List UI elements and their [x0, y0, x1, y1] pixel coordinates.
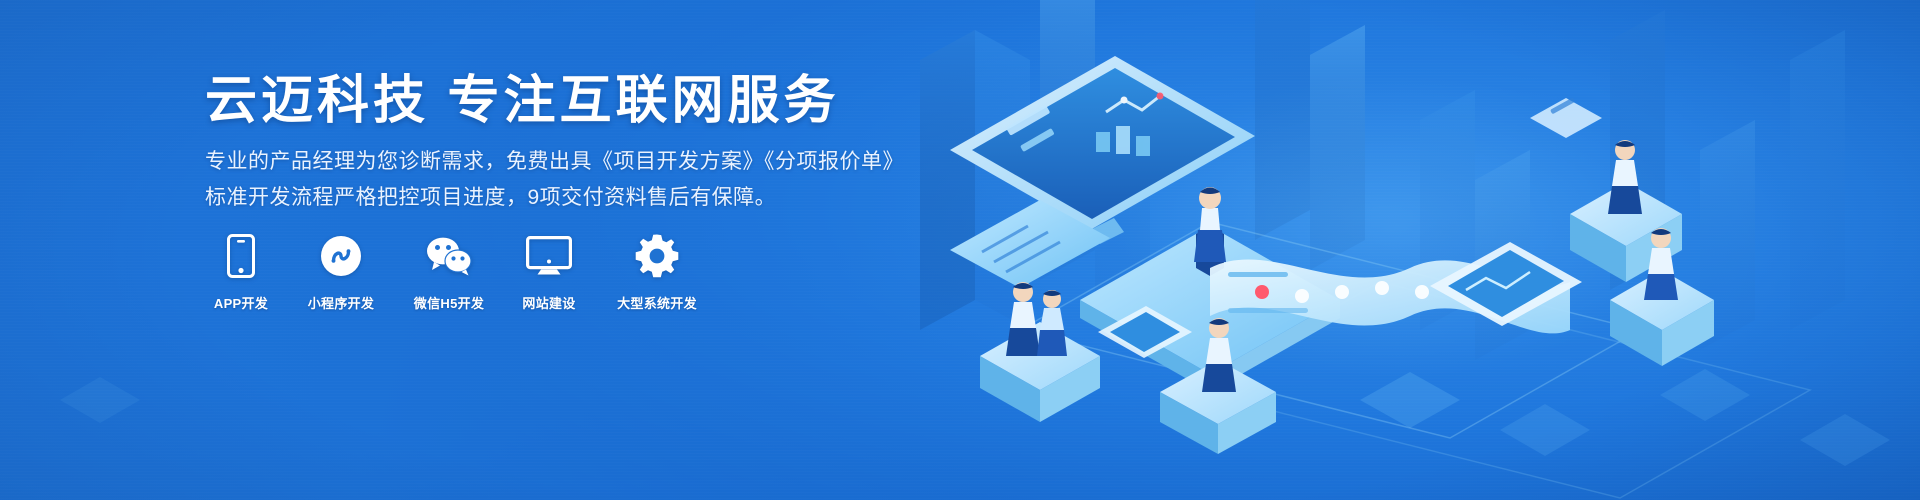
hero-illustration [910, 0, 1920, 500]
service-list: APP开发 小程序开发 [205, 232, 709, 312]
service-item-website[interactable]: 网站建设 [513, 232, 585, 312]
service-label: 小程序开发 [308, 293, 375, 312]
service-item-enterprise-system[interactable]: 大型系统开发 [605, 232, 709, 312]
service-item-wechat-h5[interactable]: 微信H5开发 [405, 232, 493, 312]
service-label: APP开发 [214, 293, 268, 312]
page-title: 云迈科技 专注互联网服务 [205, 72, 839, 132]
wechat-icon [425, 232, 473, 280]
mini-program-icon [320, 232, 362, 280]
gear-icon [635, 232, 679, 280]
subtitle-line-1: 专业的产品经理为您诊断需求，免费出具《项目开发方案》《分项报价单》 [205, 145, 904, 179]
hero-banner: 云迈科技 专注互联网服务 专业的产品经理为您诊断需求，免费出具《项目开发方案》《… [0, 0, 1920, 500]
monitor-icon [526, 232, 572, 280]
service-label: 微信H5开发 [414, 293, 484, 312]
mobile-phone-icon [227, 232, 255, 280]
subtitle-line-2: 标准开发流程严格把控项目进度，9项交付资料售后有保障。 [205, 181, 776, 215]
service-label: 大型系统开发 [617, 293, 697, 312]
service-item-app[interactable]: APP开发 [205, 232, 277, 312]
service-label: 网站建设 [522, 293, 575, 312]
banner-content: 云迈科技 专注互联网服务 专业的产品经理为您诊断需求，免费出具《项目开发方案》《… [205, 0, 925, 500]
service-item-mini-program[interactable]: 小程序开发 [297, 232, 385, 312]
